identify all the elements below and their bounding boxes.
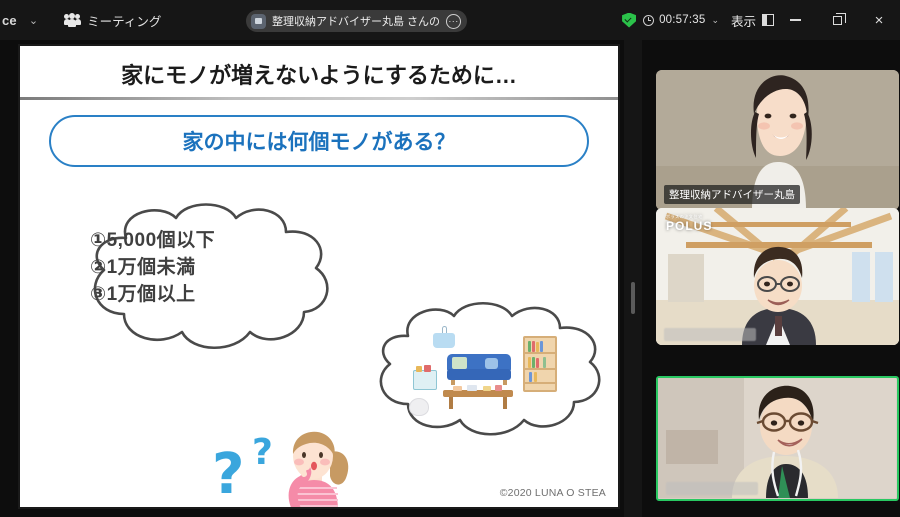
participant-tile[interactable]: ポラスの注文住宅 POLUS [656,208,899,345]
encryption-shield-icon[interactable] [622,13,636,28]
copyright-notice: ©2020 LUNA O STEA [500,487,606,499]
options-thought-cloud: ①5,000個以下 ②1万個未満 ③1万個以上 [68,198,378,368]
question-mark-large-icon: ? [212,442,244,507]
trash-bag-icon [409,398,429,416]
shared-app-icon [251,14,266,29]
bookshelf-icon [523,336,557,392]
slide-title: 家にモノが増えないようにするために… [20,58,618,90]
toy-box-icon [413,370,437,390]
close-button[interactable]: × [858,0,900,40]
zoom-meeting-window: ce ⌄ ミーティング 整理収納アドバイザー丸島 さんの ··· 00:57:3… [0,0,900,517]
clock-icon [643,15,654,26]
timer-chevron-down-icon[interactable]: ⌄ [711,15,719,26]
polus-logo-main-text: POLUS [666,219,712,233]
meeting-timer: 00:57:35 [659,14,705,26]
coffee-table-icon [443,390,513,410]
titlebar-left-group: ce ⌄ ミーティング [0,11,161,30]
participant-tile[interactable]: 整理収納アドバイザー丸島 [656,70,899,210]
answer-options-list: ①5,000個以下 ②1万個未満 ③1万個以上 [90,228,355,309]
drag-handle-icon[interactable] [631,282,635,314]
layout-view-icon[interactable] [762,14,774,26]
question-text: 家の中には何個モノがある？ [183,126,456,156]
sofa-icon [447,354,511,384]
cluttered-room-illustration [405,324,585,422]
answer-option: ③1万個以上 [90,282,355,309]
answer-option: ②1万個未満 [90,255,355,282]
participant-name-label: 整理収納アドバイザー丸島 [664,185,800,204]
shared-content-title: 整理収納アドバイザー丸島 さんの [272,13,440,29]
polus-logo: ポラスの注文住宅 POLUS [666,214,712,233]
room-thought-cloud [360,298,620,443]
window-title-bar: ce ⌄ ミーティング 整理収納アドバイザー丸島 さんの ··· 00:57:3… [0,0,900,40]
screen-share-indicator-pill[interactable]: 整理収納アドバイザー丸島 さんの ··· [246,10,467,32]
view-menu-label[interactable]: 表示 [731,11,756,30]
maximize-restore-button[interactable] [816,0,858,40]
blurred-name-label [664,328,756,341]
titlebar-right-group: 00:57:35 ⌄ 表示 × [622,0,900,40]
shared-screen-stage: 家にモノが増えないようにするために… 家の中には何個モノがある？ ①5,000個… [0,40,620,517]
minimize-button[interactable] [774,0,816,40]
thinking-woman-illustration [268,424,364,509]
meeting-tab-label: ミーティング [87,11,161,30]
question-box: 家の中には何個モノがある？ [49,115,589,167]
close-icon: × [875,12,884,29]
panel-resize-divider[interactable] [624,40,642,517]
title-divider-rule [20,97,618,100]
meeting-tab[interactable]: ミーティング [64,11,161,30]
more-options-icon[interactable]: ··· [446,14,461,29]
answer-option: ①5,000個以下 [90,228,355,255]
presentation-slide: 家にモノが増えないようにするために… 家の中には何個モノがある？ ①5,000個… [18,44,620,509]
participant-tile-active-speaker[interactable] [656,376,899,501]
hanging-shirt-icon [431,326,457,350]
app-name-label: ce [2,13,17,28]
people-icon [64,13,80,27]
chevron-down-icon[interactable]: ⌄ [27,14,40,27]
participant-video-panel: 整理収納アドバイザー丸島 [642,40,900,517]
blurred-name-label [666,482,758,495]
